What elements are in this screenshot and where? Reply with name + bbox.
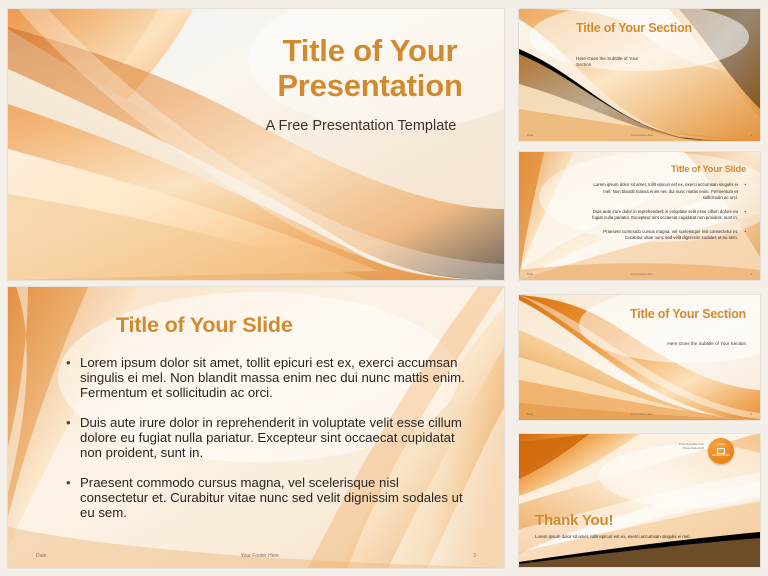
footer-slide-number: 5	[750, 412, 752, 416]
slide-section-slide-right[interactable]: Title of Your Section Here Goes the Subt…	[519, 295, 760, 420]
footer-center-text: Your Footer Here	[533, 412, 750, 416]
slide-body-text: Lorem ipsum dolor sit amet, tollit epicu…	[535, 534, 745, 540]
slide-footer: Date Your Footer Here 4	[519, 269, 760, 280]
footer-center-text: Your Footer Here	[47, 553, 474, 559]
footer-slide-number: 6	[750, 559, 752, 563]
footer-slide-number: 2	[473, 553, 476, 559]
footer-center-text: Your Footer Here	[533, 272, 750, 276]
slide-content-slide[interactable]: Title of Your Slide Lorem ipsum dolor si…	[8, 287, 504, 568]
slide-title-text: Title of Your Presentation	[250, 33, 490, 104]
bullet-item: Duis aute irure dolor in reprehenderit i…	[66, 415, 466, 460]
badge-slide-glyph-icon	[717, 448, 725, 455]
bullet-list: Lorem ipsum dolor sit amet, tollit epicu…	[586, 182, 746, 249]
badge-top-label: FREE	[717, 444, 724, 447]
bullet-item: Praesent commodo cursus magna, vel scele…	[66, 475, 466, 520]
slide-footer: Date Your Footer Here 3	[519, 130, 760, 141]
slide-title-text: Title of Your Slide	[116, 313, 446, 338]
footer-center-text: Your Footer Here	[533, 133, 750, 137]
bullet-list: Lorem ipsum dolor sit amet, tollit epicu…	[66, 355, 466, 535]
slide-title-text: Title of Your Section	[576, 21, 706, 35]
template-preview-board: Title of Your Presentation A Free Presen…	[0, 0, 768, 576]
footer-slide-number: 4	[750, 272, 752, 276]
bullet-item: Lorem ipsum dolor sit amet, tollit epicu…	[66, 355, 466, 400]
bullet-item: Duis aute irure dolor in reprehenderit i…	[586, 209, 746, 222]
slide-subtitle-text: A Free Presentation Template	[230, 117, 492, 137]
slide-thank-you-slide[interactable]: Free Template from PresentationGO FREE P…	[519, 434, 760, 567]
bullet-item: Lorem ipsum dolor sit amet, tollit epicu…	[586, 182, 746, 202]
slide-footer: Date Your Footer Here 5	[519, 409, 760, 420]
bullet-item: Praesent commodo cursus magna, vel scele…	[586, 229, 746, 242]
slide-section-slide-left[interactable]: Title of Your Section Here Goes the Subt…	[519, 9, 760, 141]
badge-note-text: Free Template from PresentationGO	[660, 442, 704, 451]
footer-date: Date	[36, 553, 47, 559]
badge-bottom-label: PRESENTATION	[712, 455, 730, 457]
slide-subtitle-text: Here Goes the Subtitle of Your Section	[601, 341, 746, 347]
footer-center-text: Your Footer Here	[533, 559, 750, 563]
slide-subtitle-text: Here Goes the Subtitle of Your Section	[576, 56, 651, 68]
slide-footer: Date Your Footer Here 6	[519, 556, 760, 567]
slide-title-text: Thank You!	[535, 512, 695, 529]
footer-slide-number: 3	[750, 133, 752, 137]
slide-title-text: Title of Your Section	[596, 307, 746, 321]
slide-content-slide-right[interactable]: Title of Your Slide Lorem ipsum dolor si…	[519, 152, 760, 280]
slide-footer: Date Your Footer Here 2	[8, 548, 504, 568]
slide-title-slide[interactable]: Title of Your Presentation A Free Presen…	[8, 9, 504, 280]
free-template-badge-icon[interactable]: FREE PRESENTATION	[708, 438, 734, 464]
slide-title-text: Title of Your Slide	[596, 164, 746, 175]
